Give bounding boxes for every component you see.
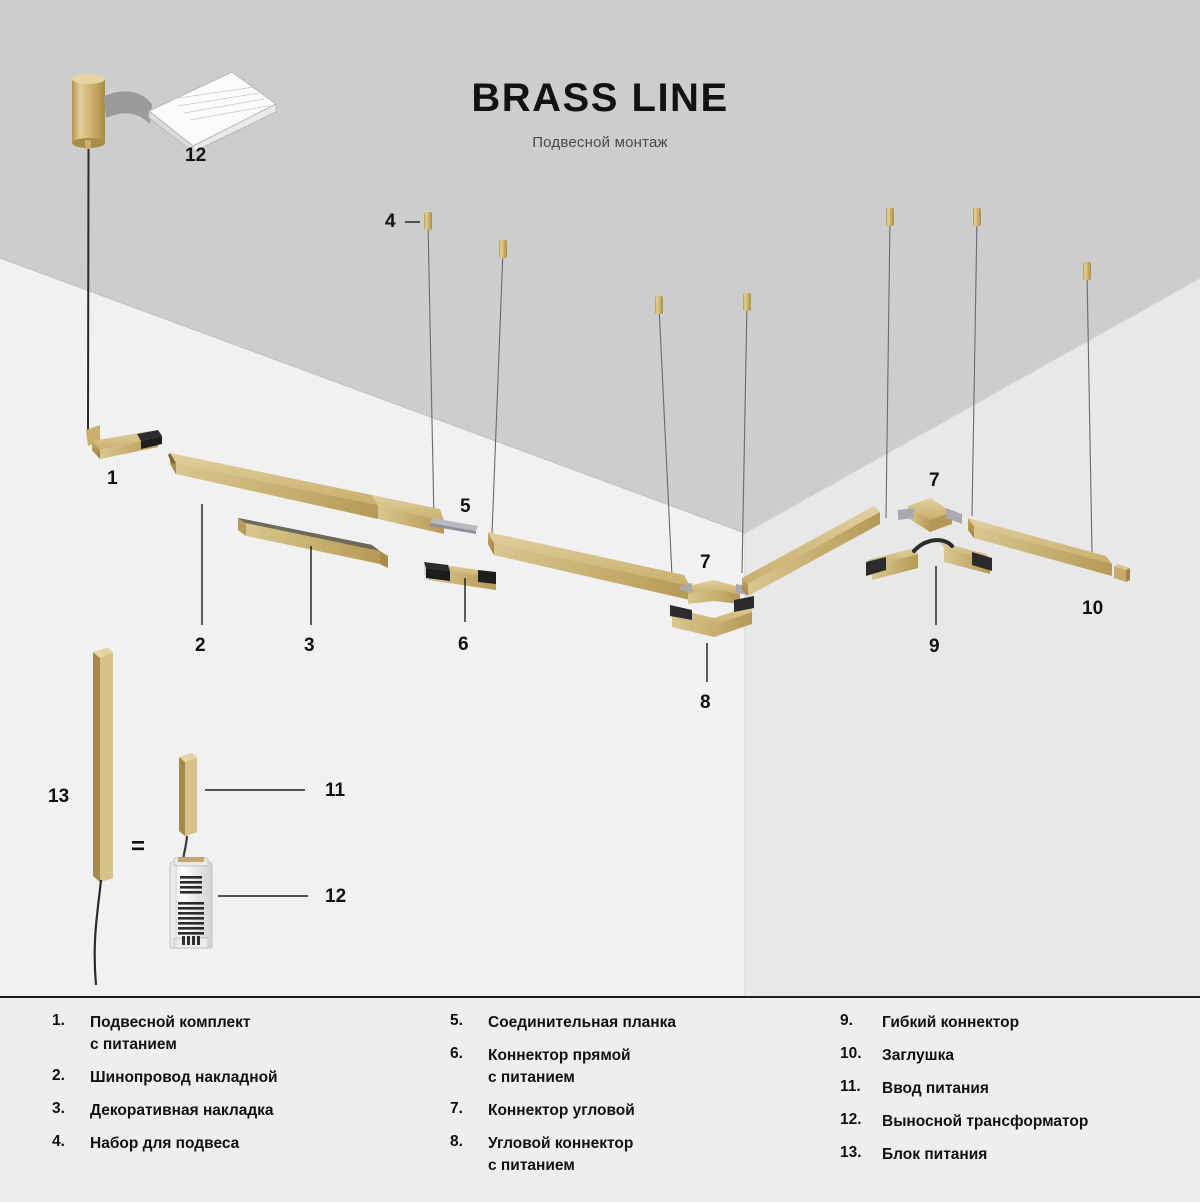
- legend-text-13: Блок питания: [882, 1144, 987, 1166]
- legend-panel: 1. Подвесной комплект с питанием 2. Шино…: [0, 996, 1200, 1200]
- page-subtitle: Подвесной монтаж: [0, 134, 1200, 151]
- legend-text-12: Выносной трансформатор: [882, 1111, 1088, 1133]
- legend-text-4: Набор для подвеса: [90, 1133, 239, 1155]
- canopy-cable: [88, 149, 89, 432]
- callout-7-left: 7: [700, 552, 711, 574]
- legend-column-3: 9. Гибкий коннектор 10. Заглушка 11. Вво…: [840, 1012, 1190, 1177]
- legend-item-6: 6. Коннектор прямой с питанием: [450, 1045, 830, 1089]
- legend-text-2: Шинопровод накладной: [90, 1067, 278, 1089]
- legend-num-10: 10.: [840, 1045, 882, 1067]
- legend-item-1: 1. Подвесной комплект с питанием: [52, 1012, 432, 1056]
- diagram-page: BRASS LINE Подвесной монтаж 1 2 3 4 5 6 …: [0, 0, 1200, 1200]
- legend-num-6: 6.: [450, 1045, 488, 1089]
- legend-item-8: 8. Угловой коннектор с питанием: [450, 1133, 830, 1177]
- legend-text-10: Заглушка: [882, 1045, 954, 1067]
- callout-6: 6: [458, 634, 469, 656]
- callout-7-right: 7: [929, 470, 940, 492]
- callout-8: 8: [700, 692, 711, 714]
- legend-item-12: 12. Выносной трансформатор: [840, 1111, 1190, 1133]
- legend-item-10: 10. Заглушка: [840, 1045, 1190, 1067]
- legend-text-5: Соединительная планка: [488, 1012, 676, 1034]
- callout-12-bottom: 12: [325, 886, 346, 908]
- callout-11: 11: [325, 780, 345, 802]
- legend-column-2: 5. Соединительная планка 6. Коннектор пр…: [450, 1012, 830, 1188]
- legend-num-8: 8.: [450, 1133, 488, 1177]
- legend-num-2: 2.: [52, 1067, 90, 1089]
- legend-text-7: Коннектор угловой: [488, 1100, 635, 1122]
- legend-item-13: 13. Блок питания: [840, 1144, 1190, 1166]
- legend-num-7: 7.: [450, 1100, 488, 1122]
- legend-num-4: 4.: [52, 1133, 90, 1155]
- legend-num-5: 5.: [450, 1012, 488, 1034]
- callout-13: 13: [48, 786, 69, 808]
- legend-text-3: Декоративная накладка: [90, 1100, 274, 1122]
- legend-text-1: Подвесной комплект с питанием: [90, 1012, 251, 1056]
- title-block: BRASS LINE Подвесной монтаж: [0, 78, 1200, 151]
- page-title: BRASS LINE: [0, 78, 1200, 118]
- part-12-remote-transformer-box: [170, 857, 212, 948]
- legend-num-1: 1.: [52, 1012, 90, 1056]
- legend-text-6: Коннектор прямой с питанием: [488, 1045, 631, 1089]
- legend-item-11: 11. Ввод питания: [840, 1078, 1190, 1100]
- legend-num-9: 9.: [840, 1012, 882, 1034]
- legend-item-9: 9. Гибкий коннектор: [840, 1012, 1190, 1034]
- legend-item-4: 4. Набор для подвеса: [52, 1133, 432, 1155]
- legend-item-5: 5. Соединительная планка: [450, 1012, 830, 1034]
- legend-item-7: 7. Коннектор угловой: [450, 1100, 830, 1122]
- callout-4: 4: [385, 211, 396, 233]
- legend-item-2: 2. Шинопровод накладной: [52, 1067, 432, 1089]
- legend-text-11: Ввод питания: [882, 1078, 989, 1100]
- legend-num-11: 11.: [840, 1078, 882, 1100]
- callout-5: 5: [460, 496, 471, 518]
- legend-num-3: 3.: [52, 1100, 90, 1122]
- legend-num-12: 12.: [840, 1111, 882, 1133]
- legend-text-9: Гибкий коннектор: [882, 1012, 1019, 1034]
- equals-sign: =: [131, 833, 145, 861]
- legend-item-3: 3. Декоративная накладка: [52, 1100, 432, 1122]
- callout-3: 3: [304, 635, 315, 657]
- callout-2: 2: [195, 635, 206, 657]
- legend-text-8: Угловой коннектор с питанием: [488, 1133, 633, 1177]
- callout-10: 10: [1082, 598, 1103, 620]
- legend-column-1: 1. Подвесной комплект с питанием 2. Шино…: [52, 1012, 432, 1166]
- scene-illustration: BRASS LINE Подвесной монтаж 1 2 3 4 5 6 …: [0, 0, 1200, 996]
- callout-9: 9: [929, 636, 940, 658]
- legend-num-13: 13.: [840, 1144, 882, 1166]
- callout-1: 1: [107, 468, 118, 490]
